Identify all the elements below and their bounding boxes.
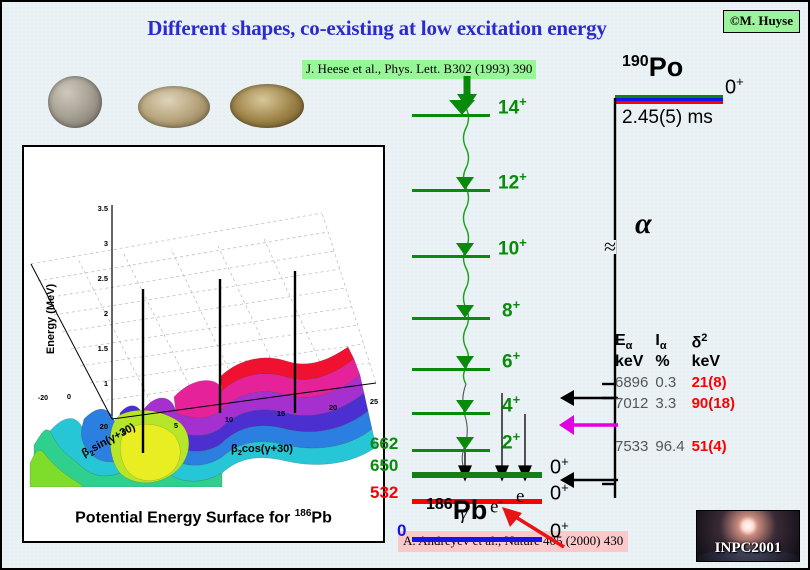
cell-intensity: 3.3 [655,393,691,414]
spin-label-8plus: 8+ [502,297,520,322]
svg-text:3.5: 3.5 [98,204,108,213]
svg-text:3: 3 [104,239,108,248]
cell-energy: 7533 [615,436,655,457]
logo-label: INPC2001 [697,540,799,557]
spin-label-12plus: 12+ [498,169,527,194]
spin-label-10plus: 10+ [498,235,527,260]
header-i-alpha: Iα [655,332,691,353]
pes-caption-element: Pb [311,509,331,526]
table-spacer-row [615,414,742,436]
spin-label-2plus: 2+ [502,429,520,454]
table-row: 6896 0.3 21(8) [615,372,742,393]
level-line-10plus [412,255,490,258]
svg-text:5: 5 [174,421,178,430]
cell-delta2: 90(18) [692,393,742,414]
svg-text:10: 10 [225,415,233,424]
cell-delta2: 51(4) [692,436,742,457]
level-line-4plus [412,412,490,415]
unit-delta2: keV [692,353,742,372]
svg-text:2: 2 [104,309,108,318]
cell-energy: 6896 [615,372,655,393]
energy-label-650: 650 [370,456,398,476]
table-row: 7533 96.4 51(4) [615,436,742,457]
inpc2001-logo: INPC2001 [696,510,800,562]
spin-label-14plus: 14+ [498,94,527,119]
cell-delta2: 21(8) [692,372,742,393]
level-line-12plus [412,189,490,192]
svg-text:25: 25 [370,397,378,406]
jpi-label-po190-ground: 0+ [725,74,744,100]
table-units-row: keV % keV [615,353,742,372]
svg-text:20: 20 [100,422,108,431]
pes-caption-mass: 186 [295,508,312,519]
alpha-feeding-arrows [558,382,620,492]
svg-text:15: 15 [277,409,285,418]
sphere-photo [48,76,102,128]
table-header-row: Eα Iα δ2 [615,332,742,353]
level-line-8plus [412,317,490,320]
energy-label-532: 532 [370,483,398,503]
unit-e-alpha: keV [615,353,655,372]
copyright-badge: ©M. Huyse [723,10,800,33]
energy-label-662: 662 [370,434,398,454]
potential-energy-surface-panel: 0.51 1.52 2.53 3.5 Energy (MeV) [22,145,385,543]
axis-break-marker: ≈ [604,240,616,254]
pes-caption: Potential Energy Surface for 186Pb [24,508,383,527]
oblate-photo [138,86,210,128]
alpha-decay-table: Eα Iα δ2 keV % keV 6896 0.3 21(8) 7012 3… [615,332,742,457]
slide-canvas: Different shapes, co-existing at low exc… [0,0,810,570]
svg-text:20: 20 [329,403,337,412]
spin-label-6plus: 6+ [502,348,520,373]
red-pointer-arrow [498,505,570,553]
level-line-2plus [412,449,490,452]
po-element-symbol: Po [649,52,684,82]
cell-intensity: 96.4 [655,436,691,457]
level-line-0plus-650 [412,472,542,478]
prolate-photo [230,84,304,128]
table-row: 7012 3.3 90(18) [615,393,742,414]
header-e-alpha: Eα [615,332,655,353]
svg-text:2.5: 2.5 [98,274,108,283]
svg-text:0: 0 [67,392,71,401]
cell-energy: 7012 [615,393,655,414]
svg-text:1.5: 1.5 [98,344,108,353]
spin-label-4plus: 4+ [502,392,520,417]
energy-label-0: 0 [397,521,406,541]
pes-3d-plot: 0.51 1.52 2.53 3.5 Energy (MeV) [24,147,387,487]
pb-element-symbol: Pb [453,495,488,525]
nuclide-label-pb186: 186Pb [426,495,487,526]
cell-intensity: 0.3 [655,372,691,393]
svg-text:-20: -20 [38,395,48,402]
pes-caption-text: Potential Energy Surface for [75,509,295,526]
po-mass-number: 190 [622,53,649,70]
nuclide-label-po190: 190Po [622,52,683,83]
pb-mass-number: 186 [426,496,453,513]
header-delta2: δ2 [692,332,742,353]
svg-text:1: 1 [104,379,108,388]
unit-i-alpha: % [655,353,691,372]
page-title: Different shapes, co-existing at low exc… [62,16,692,41]
level-line-6plus [412,368,490,371]
level-line-14plus [412,114,490,117]
